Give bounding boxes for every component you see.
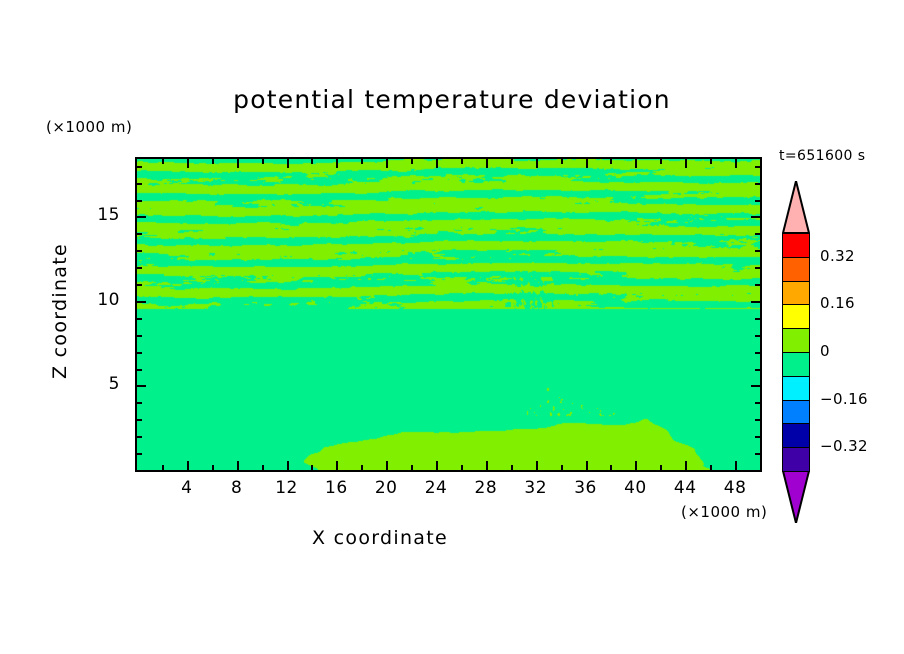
- y-tick-right: [751, 216, 760, 218]
- y-tick-minor: [137, 402, 142, 404]
- z-axis-unit-label: (×1000 m): [46, 118, 132, 136]
- x-tick-label: 44: [665, 478, 705, 498]
- y-tick-right: [755, 183, 760, 185]
- y-tick-minor: [137, 267, 142, 269]
- x-tick-minor: [436, 461, 438, 470]
- x-tick-top: [735, 159, 737, 168]
- colorbar-band: [782, 328, 810, 353]
- x-tick-top: [660, 159, 662, 164]
- x-axis-unit-label: (×1000 m): [681, 503, 767, 521]
- colorbar-band: [782, 281, 810, 306]
- y-tick-minor: [137, 335, 142, 337]
- y-tick-minor: [137, 250, 142, 252]
- y-tick-minor: [137, 419, 142, 421]
- x-tick-top: [561, 159, 563, 164]
- x-tick-minor: [262, 465, 264, 470]
- colorbar-band: [782, 447, 810, 472]
- y-tick-minor: [137, 284, 142, 286]
- x-tick-minor: [635, 461, 637, 470]
- x-tick-top: [237, 159, 239, 168]
- x-tick-top: [486, 159, 488, 168]
- y-tick-right: [755, 200, 760, 202]
- y-tick-label: 5: [88, 374, 120, 394]
- x-tick-top: [411, 159, 413, 164]
- x-tick-minor: [685, 461, 687, 470]
- x-tick-minor: [287, 461, 289, 470]
- y-tick-minor: [137, 352, 142, 354]
- page-title: potential temperature deviation: [0, 85, 904, 114]
- x-tick-top: [461, 159, 463, 164]
- y-tick-right: [755, 419, 760, 421]
- x-tick-label: 16: [316, 478, 356, 498]
- colorbar-band: [782, 233, 810, 258]
- y-tick-right: [755, 233, 760, 235]
- y-axis-title: Z coordinate: [49, 211, 71, 411]
- x-tick-label: 4: [167, 478, 207, 498]
- x-tick-label: 32: [516, 478, 556, 498]
- timestamp-annotation: t=651600 s: [779, 148, 865, 164]
- y-tick-right: [755, 352, 760, 354]
- x-tick-minor: [610, 465, 612, 470]
- x-tick-minor: [561, 465, 563, 470]
- contour-plot-area: [135, 157, 762, 472]
- x-tick-minor: [386, 461, 388, 470]
- colorbar-cap-bottom: [782, 471, 810, 523]
- x-tick-top: [436, 159, 438, 168]
- x-tick-label: 24: [416, 478, 456, 498]
- colorbar-tick-label: 0: [820, 342, 830, 360]
- x-tick-minor: [361, 465, 363, 470]
- x-tick-top: [685, 159, 687, 168]
- x-tick-minor: [660, 465, 662, 470]
- x-tick-minor: [311, 465, 313, 470]
- colorbar-tick-label: 0.16: [820, 294, 855, 312]
- y-tick-right: [755, 284, 760, 286]
- x-tick-label: 28: [466, 478, 506, 498]
- y-tick-minor: [137, 200, 142, 202]
- x-tick-minor: [710, 465, 712, 470]
- y-tick-minor: [137, 369, 142, 371]
- colorbar-band: [782, 257, 810, 282]
- x-tick-label: 8: [217, 478, 257, 498]
- contour-field: [137, 159, 760, 470]
- x-tick-top: [162, 159, 164, 164]
- y-tick-right: [755, 166, 760, 168]
- y-tick-right: [755, 402, 760, 404]
- colorbar-tick-label: 0.32: [820, 247, 855, 265]
- x-tick-minor: [162, 465, 164, 470]
- y-tick-right: [755, 318, 760, 320]
- y-tick-minor: [137, 301, 146, 303]
- colorbar-cap-top: [782, 181, 810, 233]
- y-tick-minor: [137, 436, 142, 438]
- y-tick-minor: [137, 216, 146, 218]
- x-tick-top: [336, 159, 338, 168]
- colorbar-band: [782, 376, 810, 401]
- x-tick-minor: [586, 461, 588, 470]
- y-tick-minor: [137, 233, 142, 235]
- x-tick-label: 40: [615, 478, 655, 498]
- y-tick-right: [751, 301, 760, 303]
- y-tick-right: [755, 436, 760, 438]
- x-tick-top: [311, 159, 313, 164]
- y-tick-right: [751, 385, 760, 387]
- x-tick-top: [212, 159, 214, 164]
- x-tick-minor: [336, 461, 338, 470]
- colorbar: 0.320.160−0.16−0.32: [782, 233, 810, 471]
- x-tick-minor: [735, 461, 737, 470]
- x-tick-label: 36: [566, 478, 606, 498]
- x-tick-minor: [237, 461, 239, 470]
- x-tick-label: 20: [366, 478, 406, 498]
- x-tick-top: [511, 159, 513, 164]
- colorbar-tick-label: −0.32: [820, 437, 868, 455]
- colorbar-band: [782, 400, 810, 425]
- y-tick-right: [755, 250, 760, 252]
- x-tick-top: [610, 159, 612, 164]
- y-tick-minor: [137, 183, 142, 185]
- y-tick-label: 15: [88, 205, 120, 225]
- colorbar-band: [782, 423, 810, 448]
- y-tick-right: [755, 369, 760, 371]
- colorbar-tick-label: −0.16: [820, 390, 868, 408]
- x-tick-top: [586, 159, 588, 168]
- x-axis-title: X coordinate: [0, 527, 760, 549]
- x-tick-top: [386, 159, 388, 168]
- y-tick-minor: [137, 453, 142, 455]
- colorbar-band: [782, 352, 810, 377]
- y-tick-right: [755, 335, 760, 337]
- x-tick-minor: [511, 465, 513, 470]
- x-tick-top: [536, 159, 538, 168]
- x-tick-top: [287, 159, 289, 168]
- y-tick-minor: [137, 166, 142, 168]
- y-tick-minor: [137, 318, 142, 320]
- x-tick-top: [361, 159, 363, 164]
- y-tick-minor: [137, 385, 146, 387]
- x-tick-top: [262, 159, 264, 164]
- colorbar-band: [782, 304, 810, 329]
- x-tick-label: 48: [715, 478, 755, 498]
- y-tick-right: [755, 453, 760, 455]
- x-tick-top: [187, 159, 189, 168]
- x-tick-top: [710, 159, 712, 164]
- x-tick-minor: [536, 461, 538, 470]
- x-tick-minor: [461, 465, 463, 470]
- x-tick-minor: [212, 465, 214, 470]
- x-tick-minor: [187, 461, 189, 470]
- x-tick-top: [635, 159, 637, 168]
- x-tick-minor: [486, 461, 488, 470]
- x-tick-label: 12: [267, 478, 307, 498]
- y-tick-right: [755, 267, 760, 269]
- x-tick-minor: [411, 465, 413, 470]
- y-tick-label: 10: [88, 290, 120, 310]
